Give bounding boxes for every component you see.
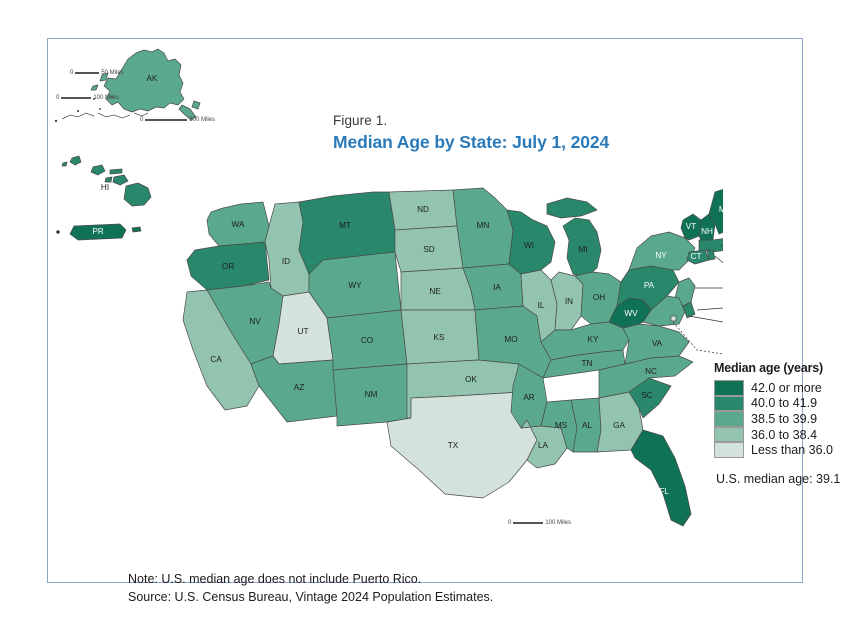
alaska-scalebar: 0 500 Miles <box>140 117 215 123</box>
figure-label: Figure 1. <box>333 113 609 128</box>
state-label-MT: MT <box>339 221 351 230</box>
state-HI-molokai <box>110 169 122 174</box>
state-label-OH: OH <box>593 293 605 302</box>
footnote-note: Note: U.S. median age does not include P… <box>128 570 493 588</box>
us-median-age: U.S. median age: 39.1 <box>716 472 840 486</box>
legend-swatch-2 <box>714 411 744 427</box>
state-label-IL: IL <box>538 301 545 310</box>
state-label-WV: WV <box>624 309 638 318</box>
main-scale-label: 100 Miles <box>545 520 571 526</box>
state-label-TX: TX <box>448 441 459 450</box>
state-label-KY: KY <box>588 335 599 344</box>
state-label-SD: SD <box>423 245 434 254</box>
state-label-ND: ND <box>417 205 429 214</box>
state-label-CO: CO <box>361 336 373 345</box>
footnote: Note: U.S. median age does not include P… <box>128 570 493 606</box>
state-label-AR: AR <box>523 393 534 402</box>
legend-swatch-4 <box>714 442 744 458</box>
state-label-MI: MI <box>578 245 587 254</box>
legend-item-4: Less than 36.0 <box>714 442 850 458</box>
state-DC <box>671 316 676 321</box>
legend-item-3: 36.0 to 38.4 <box>714 427 850 443</box>
alaska-scale-zero: 0 <box>140 117 143 123</box>
state-label-MO: MO <box>504 335 517 344</box>
pr-scale-zero: 0 <box>70 70 73 76</box>
legend-label-1: 40.0 to 41.9 <box>751 396 817 410</box>
state-label-MS: MS <box>555 421 568 430</box>
contiguous-us-map: WA OR ID MT WY NV CA UT AZ CO <box>123 164 723 554</box>
state-label-CA: CA <box>210 355 222 364</box>
state-label-WY: WY <box>348 281 362 290</box>
us-states-svg: WA OR ID MT WY NV CA UT AZ CO <box>123 164 723 554</box>
state-label-NY: NY <box>655 251 667 260</box>
state-FL <box>631 430 691 526</box>
state-label-KS: KS <box>434 333 445 342</box>
legend-item-0: 42.0 or more <box>714 380 850 396</box>
hawaii-scale-zero: 0 <box>56 95 59 101</box>
state-label-VA: VA <box>652 339 663 348</box>
state-label-OK: OK <box>465 375 477 384</box>
figure-page: Figure 1. Median Age by State: July 1, 2… <box>0 0 850 630</box>
state-label-UT: UT <box>298 327 309 336</box>
state-label-LA: LA <box>538 441 549 450</box>
state-label-AK: AK <box>147 74 158 83</box>
puerto-rico-scalebar: 0 50 Miles <box>70 70 124 76</box>
state-label-VT: VT <box>686 222 696 231</box>
state-label-NM: NM <box>365 390 378 399</box>
legend: Median age (years) 42.0 or more40.0 to 4… <box>714 361 850 458</box>
state-label-ME: ME <box>719 205 723 214</box>
state-label-NE: NE <box>429 287 441 296</box>
state-label-MN: MN <box>477 221 490 230</box>
legend-item-2: 38.5 to 39.9 <box>714 411 850 427</box>
state-label-PR: PR <box>92 227 103 236</box>
legend-swatch-1 <box>714 396 744 412</box>
state-label-AL: AL <box>582 421 592 430</box>
state-HI-kauai <box>70 156 81 165</box>
alaska-map: AK <box>48 39 218 138</box>
legend-rows: 42.0 or more40.0 to 41.938.5 to 39.936.0… <box>714 380 850 458</box>
hawaii-scalebar: 0 100 Miles <box>56 95 119 101</box>
alaska-scale-label: 500 Miles <box>189 117 215 123</box>
footnote-source: Source: U.S. Census Bureau, Vintage 2024… <box>128 588 493 606</box>
legend-label-2: 38.5 to 39.9 <box>751 412 817 426</box>
state-label-FL: FL <box>659 487 669 496</box>
alaska-inset: AK 0 500 Miles <box>48 39 220 140</box>
state-label-IN: IN <box>565 297 573 306</box>
state-label-NC: NC <box>645 367 657 376</box>
state-label-ID: ID <box>282 257 290 266</box>
main-scale-zero: 0 <box>508 520 511 526</box>
state-label-HI: HI <box>101 183 109 192</box>
figure-frame: Figure 1. Median Age by State: July 1, 2… <box>47 38 803 583</box>
state-label-TN: TN <box>582 359 593 368</box>
legend-label-4: Less than 36.0 <box>751 443 833 457</box>
state-label-OR: OR <box>222 262 234 271</box>
page-title: Median Age by State: July 1, 2024 <box>333 132 609 153</box>
state-label-NV: NV <box>249 317 261 326</box>
state-label-WI: WI <box>524 241 534 250</box>
state-label-AZ: AZ <box>294 383 304 392</box>
state-label-WA: WA <box>232 220 245 229</box>
state-AK <box>104 49 184 112</box>
state-HI-lanai <box>105 177 112 182</box>
state-label-PA: PA <box>644 281 655 290</box>
pr-scale-label: 50 Miles <box>101 70 123 76</box>
legend-title: Median age (years) <box>714 361 850 375</box>
hawaii-scale-label: 100 Miles <box>93 95 119 101</box>
state-HI-niihau <box>62 162 67 166</box>
legend-label-3: 36.0 to 38.4 <box>751 428 817 442</box>
state-label-IA: IA <box>493 283 501 292</box>
state-label-SC: SC <box>641 391 652 400</box>
state-label-GA: GA <box>613 421 625 430</box>
title-block: Figure 1. Median Age by State: July 1, 2… <box>333 113 609 153</box>
legend-swatch-3 <box>714 427 744 443</box>
state-label-CT: CT <box>691 252 702 261</box>
legend-label-0: 42.0 or more <box>751 381 822 395</box>
main-scalebar: 0 100 Miles <box>508 520 571 526</box>
state-label-NH: NH <box>701 227 713 236</box>
legend-swatch-0 <box>714 380 744 396</box>
state-HI-oahu <box>91 165 105 175</box>
legend-item-1: 40.0 to 41.9 <box>714 396 850 412</box>
